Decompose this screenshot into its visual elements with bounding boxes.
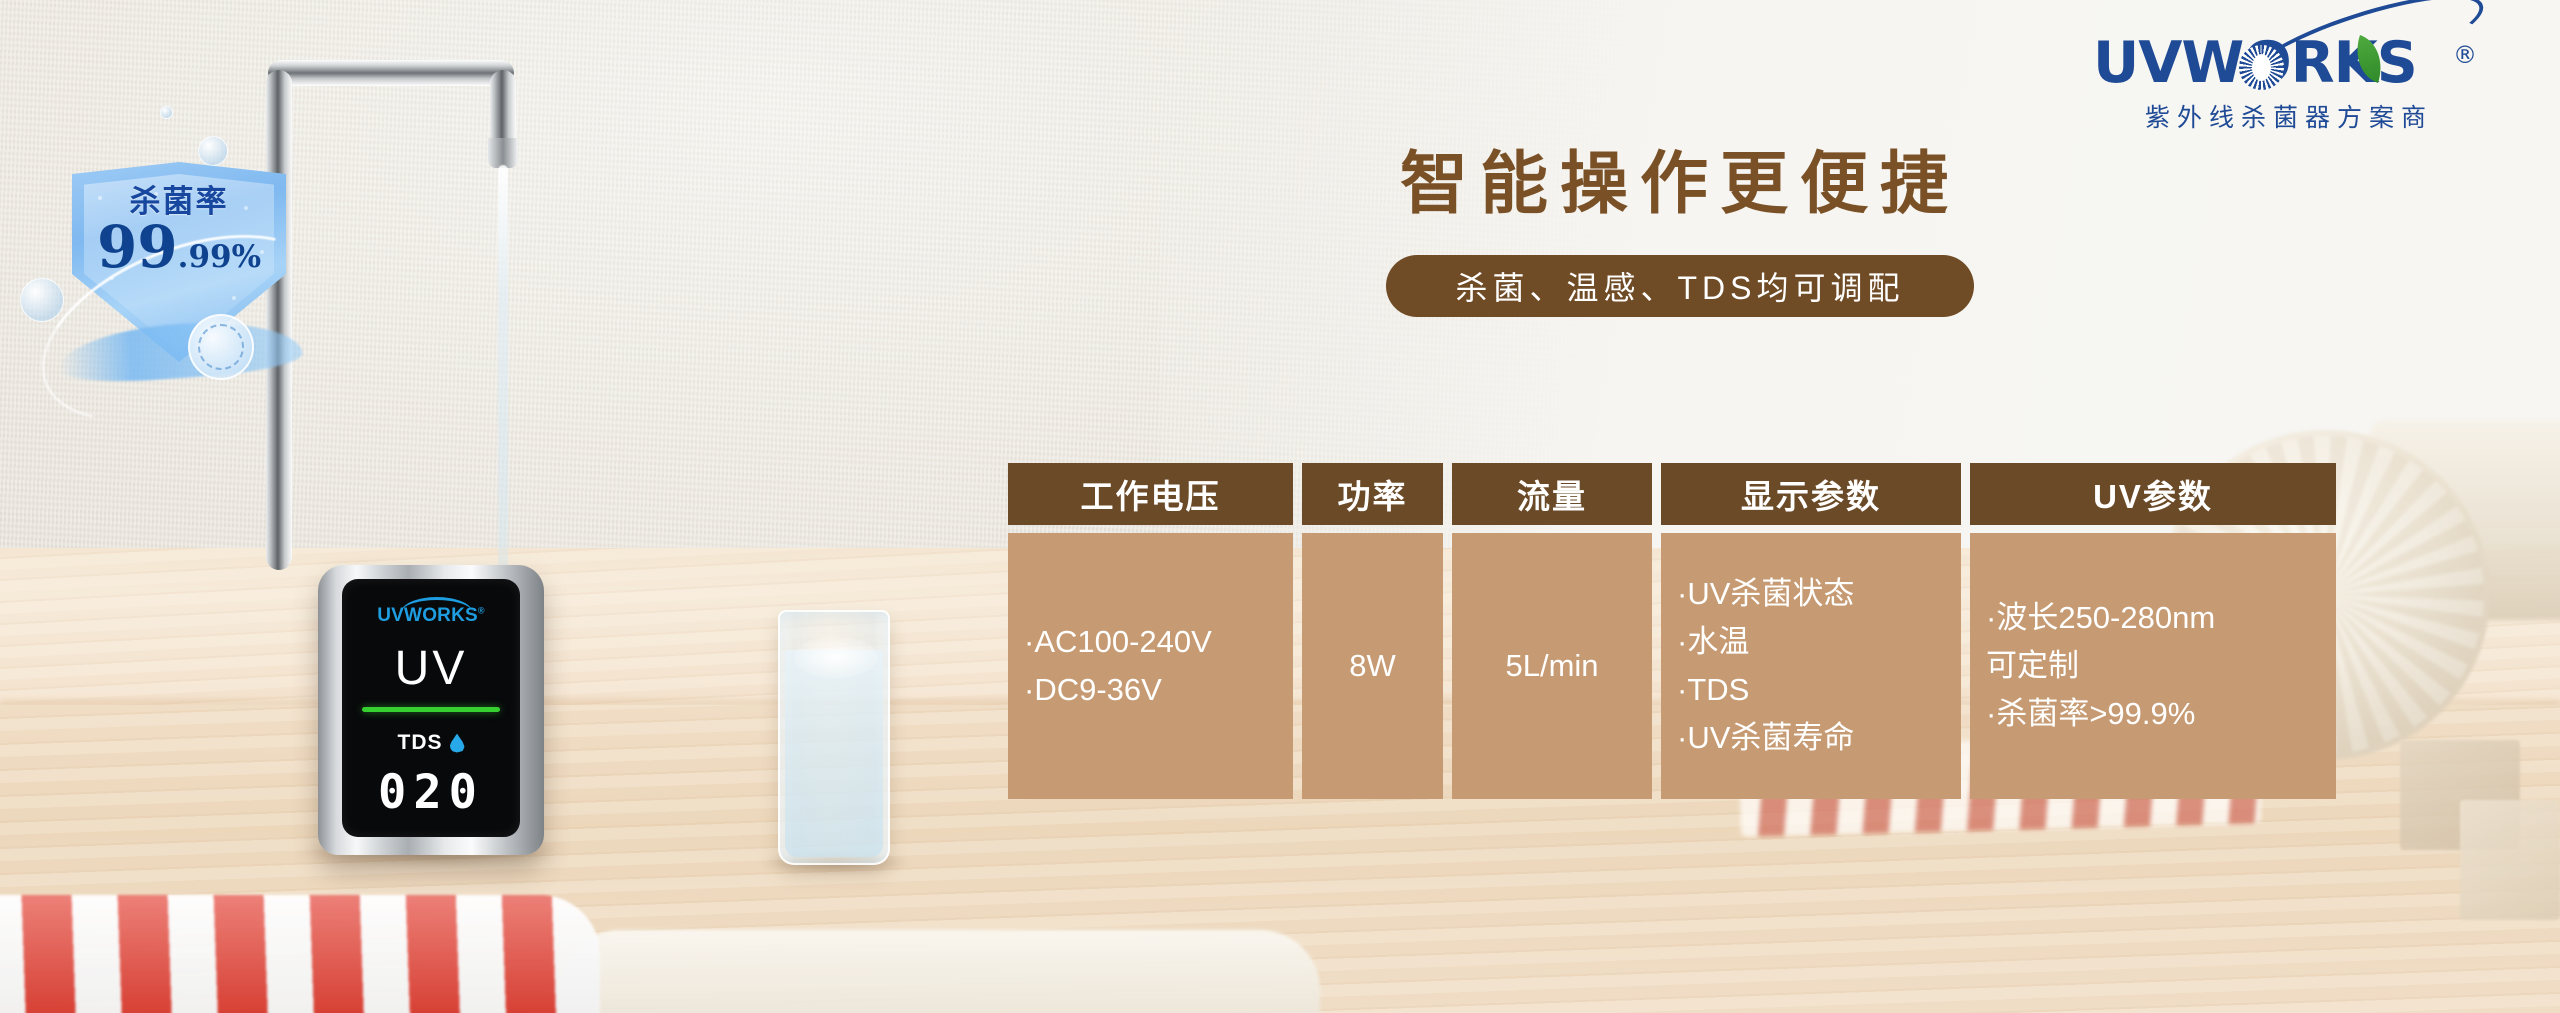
plate-prop [560,930,1320,1013]
device-mode-label: UV [342,641,520,696]
spec-line: ·UV杀菌状态 [1677,570,1854,618]
spec-header-flow: 流量 [1452,463,1652,525]
spec-line: 8W [1349,642,1396,690]
brand-tagline: 紫外线杀菌器方案商 [2085,98,2485,134]
faucet-spout-tip [488,138,518,168]
brand-logo-wordmark: UVWORKS ® [2085,35,2485,92]
device-logo: UVWORKS® [342,605,520,627]
uv-sterilizer-device: UVWORKS® UV TDS 020 [318,565,544,855]
glass-water-fill [785,650,883,857]
faucet-horizontal-arm [268,60,514,86]
checkered-towel-prop [0,895,600,1013]
logo-sunburst-icon [2239,45,2284,90]
spec-line: ·波长250-280nm [1986,594,2215,642]
spec-header-display: 显示参数 [1661,463,1961,525]
device-screen: UVWORKS® UV TDS 020 [342,579,520,837]
spec-header-uv: UV参数 [1970,463,2336,525]
device-logo-registered-icon: ® [478,606,485,616]
water-glass [778,610,890,865]
spec-line: ·杀菌率>99.9% [1986,690,2195,738]
badge-value-minor: .99% [178,239,261,275]
device-status-bar [362,707,500,712]
spec-cell-power: 8W [1302,533,1443,799]
spec-cell-flow: 5L/min [1452,533,1652,799]
water-stream [498,165,508,595]
water-drop-icon [450,734,465,753]
glass-body [778,610,890,865]
bubble-icon [198,136,228,166]
device-tds-label: TDS [398,731,443,755]
spec-line: 5L/min [1505,642,1598,690]
box-prop-b [2460,800,2560,920]
feature-pill: 杀菌、温感、TDS均可调配 [1386,255,1974,317]
bubble-icon [160,106,173,119]
product-banner: UVWORKS® UV TDS 020 [0,0,2560,1013]
spec-line: ·DC9-36V [1024,666,1162,714]
badge-value-major: 99 [97,213,178,281]
spec-line: ·AC100-240V [1024,618,1212,666]
feature-pill-label: 杀菌、温感、TDS均可调配 [1455,263,1904,309]
bubble-icon [20,278,64,322]
spec-line: ·TDS [1677,666,1749,714]
specification-table: 工作电压 功率 流量 显示参数 UV参数 ·AC100-240V ·DC9-36… [1008,463,2300,799]
spec-line: ·UV杀菌寿命 [1677,714,1854,762]
sterilization-rate-badge: 杀菌率 99.99% [40,128,320,378]
spec-cell-display: ·UV杀菌状态 ·水温 ·TDS ·UV杀菌寿命 [1661,533,1961,799]
brand-logo: UVWORKS ® 紫外线杀菌器方案商 [2085,35,2485,165]
logo-registered-icon: ® [2453,43,2476,67]
badge-value: 99.99% [72,218,286,276]
spec-line: 可定制 [1986,642,2079,690]
spec-header-voltage: 工作电压 [1008,463,1293,525]
page-title: 智能操作更便捷 [1360,128,2000,227]
device-logo-arc-icon [401,597,473,613]
glass-splash [794,636,878,678]
device-tds-value: 020 [342,765,520,820]
spec-cell-uv: ·波长250-280nm 可定制 ·杀菌率>99.9% [1970,533,2336,799]
device-tds-row: TDS [342,731,520,755]
spec-cell-voltage: ·AC100-240V ·DC9-36V [1008,533,1293,799]
spec-header-power: 功率 [1302,463,1443,525]
spec-line: ·水温 [1677,618,1749,666]
